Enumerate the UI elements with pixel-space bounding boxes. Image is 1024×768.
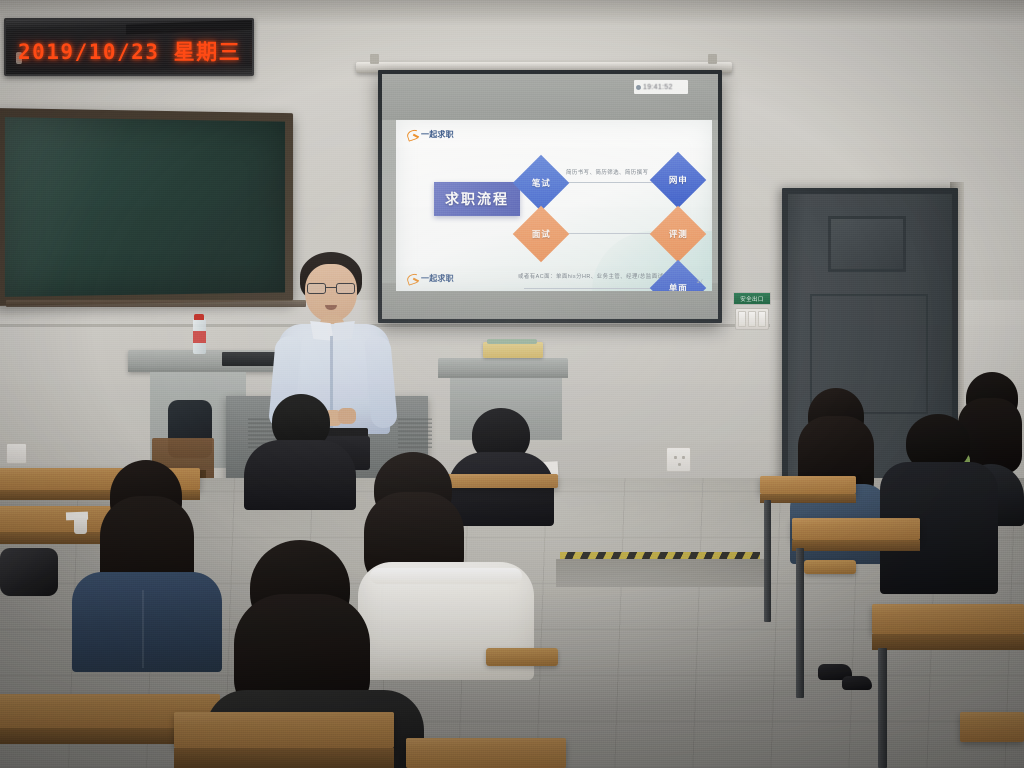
slide-annotation-bottom: 或者有AC面：单面his分HR、业务主管、经理/总监面试 bbox=[518, 272, 663, 280]
slide-node-bishi-label: 笔试 bbox=[532, 177, 551, 189]
slide-node-mianshi-label: 面试 bbox=[532, 228, 551, 240]
osd-text: 19:41:52 bbox=[643, 84, 673, 91]
projector-osd-chip: 19:41:52 bbox=[634, 80, 688, 94]
desk-right-corner bbox=[960, 712, 1024, 742]
slide-logo-text-bottom: 一起求职 bbox=[421, 273, 454, 284]
desk-right-front bbox=[872, 604, 1024, 634]
led-clock-display: 2019/10/23 星期三 19:42 bbox=[4, 18, 254, 76]
slide-node-danmian-label: 单面 bbox=[669, 282, 688, 291]
glasses-lens-right bbox=[336, 283, 355, 294]
light-switch-3[interactable] bbox=[758, 311, 766, 327]
desk-leg bbox=[764, 500, 771, 622]
desk-front-center-edge bbox=[174, 748, 394, 768]
led-clock-text: 2019/10/23 星期三 19:42 bbox=[18, 36, 254, 66]
light-switch-plate[interactable] bbox=[735, 308, 769, 330]
slide-connector-5 bbox=[524, 288, 656, 289]
desk-leg bbox=[796, 548, 804, 698]
blackboard bbox=[0, 108, 293, 306]
exit-sign-text: 安全出口 bbox=[740, 295, 764, 303]
glasses-icon bbox=[307, 283, 355, 294]
shirt-collar-right bbox=[331, 321, 355, 341]
exit-sign: 安全出口 bbox=[733, 292, 771, 305]
desk-right-back bbox=[760, 476, 856, 494]
denim-seam bbox=[142, 590, 144, 668]
osd-dot-icon bbox=[636, 85, 641, 90]
chair-back-right bbox=[804, 560, 856, 574]
desk-right-mid bbox=[792, 518, 920, 540]
desk-right-front-edge bbox=[872, 634, 1024, 650]
slide-logo-text: 一起求职 bbox=[421, 129, 454, 140]
slide-node-bishi: 笔试 bbox=[513, 155, 570, 212]
chalk-box bbox=[483, 342, 543, 358]
presentation-slide: 一起求职 求职流程 简历书写、简历筛选、简历撰写 或者有AC面：单面his分HR… bbox=[396, 120, 712, 291]
slide-node-mianshi: 面试 bbox=[513, 206, 570, 263]
handbag bbox=[0, 548, 58, 596]
desk-right-mid-edge bbox=[792, 540, 920, 551]
desk-front-center bbox=[174, 712, 394, 748]
brand-swoosh-icon bbox=[406, 129, 419, 140]
desk-leg bbox=[878, 648, 887, 768]
student-torso bbox=[244, 440, 356, 510]
wall-power-socket bbox=[666, 447, 691, 472]
desk-right-back-edge bbox=[760, 494, 856, 503]
slide-node-pingce-label: 评测 bbox=[669, 228, 688, 240]
slide-node-wangshen-label: 网申 bbox=[669, 174, 688, 186]
desk-front-right bbox=[406, 738, 566, 768]
chalk-box-lid bbox=[487, 339, 537, 344]
slide-logo-bottom: 一起求职 bbox=[406, 273, 454, 284]
projection-screen: 19:41:52 一起求职 求职流程 简历书写、简历筛选、简历撰写 或者有AC面… bbox=[378, 70, 722, 323]
housing-bracket-left bbox=[370, 54, 379, 64]
glasses-lens-left bbox=[307, 283, 326, 294]
slide-page-number: 17 bbox=[696, 279, 703, 285]
student-right-front bbox=[880, 414, 998, 604]
cabinet-vent-right bbox=[398, 418, 432, 448]
student-shoe-right bbox=[842, 676, 872, 690]
podium-surface-right bbox=[438, 358, 568, 378]
student-mid-left bbox=[244, 394, 356, 502]
slide-connector-2 bbox=[564, 233, 656, 234]
chalk-tray bbox=[6, 300, 306, 307]
classroom-photo: 2019/10/23 星期三 19:42 19:41:52 一起求职 bbox=[0, 0, 1024, 768]
light-switch-1[interactable] bbox=[738, 311, 746, 327]
slide-logo-top: 一起求职 bbox=[406, 129, 454, 140]
slide-node-wangshen: 网申 bbox=[650, 152, 707, 209]
wall-outlet-left bbox=[6, 443, 27, 464]
housing-bracket-right bbox=[708, 54, 717, 64]
glasses-bridge bbox=[326, 287, 336, 288]
slide-connector-1 bbox=[564, 182, 656, 183]
door-window-panel bbox=[828, 216, 906, 272]
brand-swoosh-icon-bottom bbox=[406, 273, 419, 284]
slide-title-text: 求职流程 bbox=[445, 189, 509, 209]
water-bottle-label bbox=[193, 331, 206, 343]
light-switch-2[interactable] bbox=[748, 311, 756, 327]
led-clock-glare bbox=[126, 19, 254, 34]
projection-surface: 19:41:52 一起求职 求职流程 简历书写、简历筛选、简历撰写 或者有AC面… bbox=[382, 74, 718, 319]
slide-title-badge: 求职流程 bbox=[434, 182, 520, 216]
slide-annotation-top: 简历书写、简历筛选、简历撰写 bbox=[566, 168, 648, 176]
chair-back-center bbox=[486, 648, 558, 666]
water-bottle-cap bbox=[194, 314, 204, 320]
